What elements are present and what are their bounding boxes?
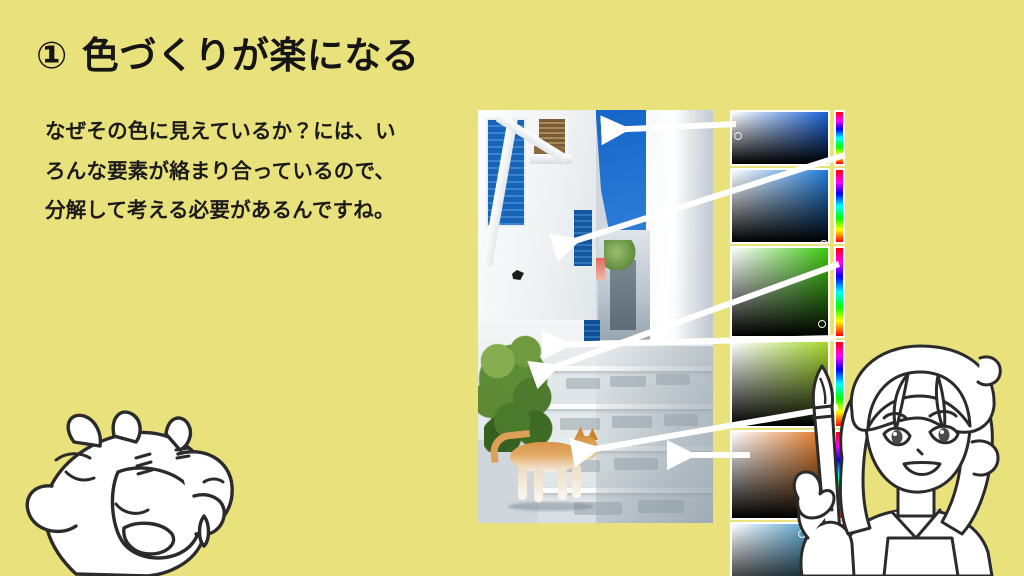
girl-hand <box>794 472 834 518</box>
girl-eye-left <box>884 428 910 445</box>
girl-apron <box>884 538 958 576</box>
mascot-horn-left <box>68 415 100 446</box>
arrow-sky <box>607 124 736 130</box>
mascot-whisker <box>176 448 188 450</box>
mascot-whisker <box>177 456 189 458</box>
girl-ribbon <box>972 441 998 475</box>
mascot-hand <box>124 523 174 554</box>
mascot-horn-mid <box>113 412 140 442</box>
dinosaur-mascot <box>18 388 248 576</box>
girl-eye-right <box>930 426 958 443</box>
artist-girl-character <box>792 338 1024 576</box>
arrow-wall-shadow <box>559 155 845 246</box>
slide-canvas: ①色づくりが楽になる なぜその色に見えているか？には、い ろんな要素が絡まり合っ… <box>0 0 1024 576</box>
girl-beret-pom <box>978 357 1000 385</box>
mascot-tongue <box>200 516 209 546</box>
